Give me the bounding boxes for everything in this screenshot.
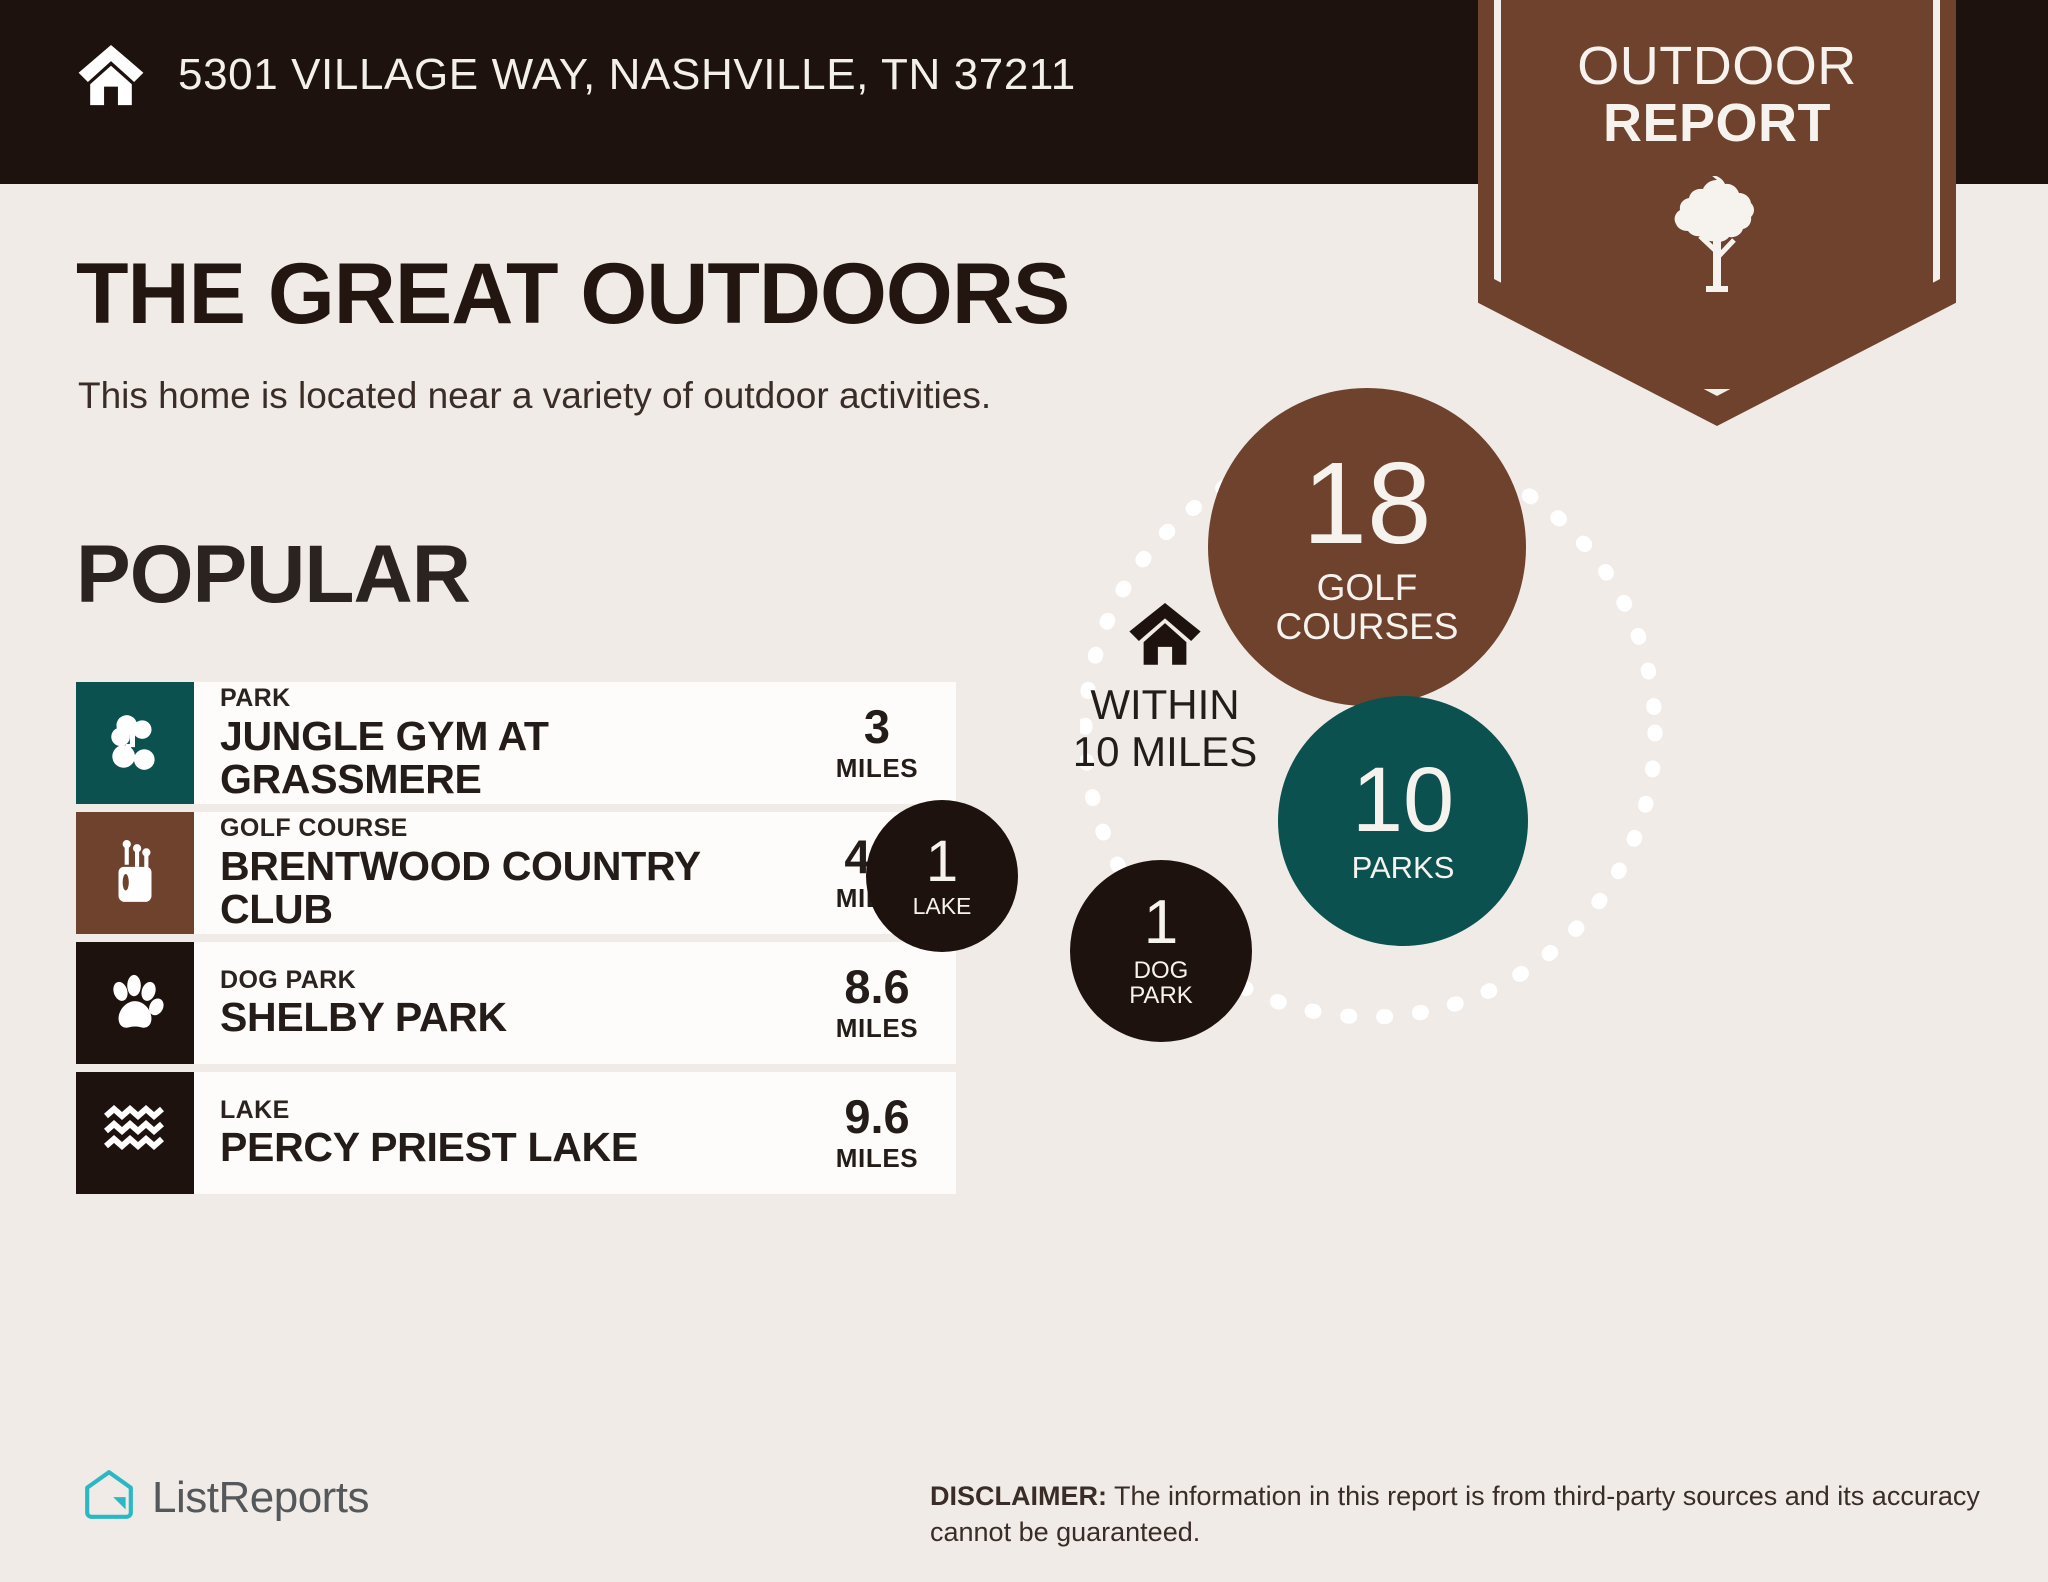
chart-center-line1: WITHIN bbox=[1000, 681, 1330, 728]
chart-center-line2: 10 MILES bbox=[1000, 728, 1330, 775]
bubble-label-line1: GOLF bbox=[1276, 568, 1459, 607]
paw-print-icon bbox=[76, 942, 194, 1064]
list-item-distance: 9.6 MILES bbox=[812, 1072, 956, 1194]
bubble-label: PARKS bbox=[1352, 852, 1455, 885]
list-item[interactable]: GOLF COURSE BRENTWOOD COUNTRY CLUB 4.5 M… bbox=[76, 812, 956, 934]
tree-icon bbox=[1478, 176, 1956, 299]
distance-value: 9.6 bbox=[844, 1093, 909, 1140]
bubble-label: GOLF COURSES bbox=[1276, 568, 1459, 646]
list-item[interactable]: PARK JUNGLE GYM AT GRASSMERE 3 MILES bbox=[76, 682, 956, 804]
list-item[interactable]: LAKE PERCY PRIEST LAKE 9.6 MILES bbox=[76, 1072, 956, 1194]
list-item-category: DOG PARK bbox=[220, 967, 812, 995]
list-item-distance: 3 MILES bbox=[812, 682, 956, 804]
popular-list: PARK JUNGLE GYM AT GRASSMERE 3 MILES GOL… bbox=[76, 682, 956, 1202]
bubble-value: 1 bbox=[926, 834, 958, 889]
distance-value: 3 bbox=[864, 703, 890, 750]
distance-unit: MILES bbox=[836, 753, 918, 784]
listreports-wordmark: ListReports bbox=[152, 1473, 369, 1523]
badge-title-line1: OUTDOOR bbox=[1478, 38, 1956, 95]
list-item-name: SHELBY PARK bbox=[220, 996, 812, 1039]
bubble-parks[interactable]: 10 PARKS bbox=[1278, 696, 1528, 946]
list-item-text: PARK JUNGLE GYM AT GRASSMERE bbox=[194, 682, 812, 804]
list-item-text: DOG PARK SHELBY PARK bbox=[194, 942, 812, 1064]
within-10-miles-chart: WITHIN 10 MILES 18 GOLF COURSES 10 PARKS… bbox=[1080, 440, 2048, 1100]
list-item-name: JUNGLE GYM AT GRASSMERE bbox=[220, 715, 812, 801]
disclaimer: DISCLAIMER: The information in this repo… bbox=[930, 1478, 1990, 1550]
page-subtitle: This home is located near a variety of o… bbox=[78, 375, 991, 417]
list-item-distance: 8.6 MILES bbox=[812, 942, 956, 1064]
distance-unit: MILES bbox=[836, 1013, 918, 1044]
distance-value: 8.6 bbox=[844, 963, 909, 1010]
home-icon bbox=[74, 38, 148, 112]
golf-bag-icon bbox=[76, 812, 194, 934]
list-item-text: GOLF COURSE BRENTWOOD COUNTRY CLUB bbox=[194, 812, 812, 934]
list-item[interactable]: DOG PARK SHELBY PARK 8.6 MILES bbox=[76, 942, 956, 1064]
bubble-label-line1: DOG bbox=[1129, 958, 1193, 983]
list-item-name: BRENTWOOD COUNTRY CLUB bbox=[220, 845, 812, 931]
list-item-category: PARK bbox=[220, 685, 812, 713]
badge-title-line2: REPORT bbox=[1478, 95, 1956, 152]
bubble-value: 18 bbox=[1302, 448, 1431, 558]
list-item-category: LAKE bbox=[220, 1097, 812, 1125]
bubble-dog-park[interactable]: 1 DOG PARK bbox=[1070, 860, 1252, 1042]
header-content: 5301 VILLAGE WAY, NASHVILLE, TN 37211 bbox=[74, 38, 1076, 112]
park-trees-icon bbox=[76, 682, 194, 804]
bubble-value: 10 bbox=[1352, 757, 1454, 844]
bubble-value: 1 bbox=[1144, 894, 1178, 953]
bubble-label-line2: PARK bbox=[1129, 983, 1193, 1008]
list-item-category: GOLF COURSE bbox=[220, 815, 812, 843]
property-address: 5301 VILLAGE WAY, NASHVILLE, TN 37211 bbox=[178, 50, 1076, 100]
disclaimer-label: DISCLAIMER: bbox=[930, 1481, 1107, 1511]
bubble-label-line2: COURSES bbox=[1276, 607, 1459, 646]
bubble-label: DOG PARK bbox=[1129, 958, 1193, 1009]
bubble-label: LAKE bbox=[913, 894, 972, 918]
bubble-golf-courses[interactable]: 18 GOLF COURSES bbox=[1208, 388, 1526, 706]
badge-title: OUTDOOR REPORT bbox=[1478, 38, 1956, 152]
listreports-logo[interactable]: ListReports bbox=[82, 1468, 369, 1527]
popular-heading: POPULAR bbox=[76, 528, 470, 622]
waves-icon bbox=[76, 1072, 194, 1194]
distance-unit: MILES bbox=[836, 1143, 918, 1174]
page-title: THE GREAT OUTDOORS bbox=[76, 245, 1069, 344]
list-item-text: LAKE PERCY PRIEST LAKE bbox=[194, 1072, 812, 1194]
listreports-house-icon bbox=[82, 1468, 136, 1527]
list-item-name: PERCY PRIEST LAKE bbox=[220, 1126, 812, 1169]
bubble-lake[interactable]: 1 LAKE bbox=[866, 800, 1018, 952]
outdoor-report-badge: OUTDOOR REPORT bbox=[1478, 0, 1956, 426]
